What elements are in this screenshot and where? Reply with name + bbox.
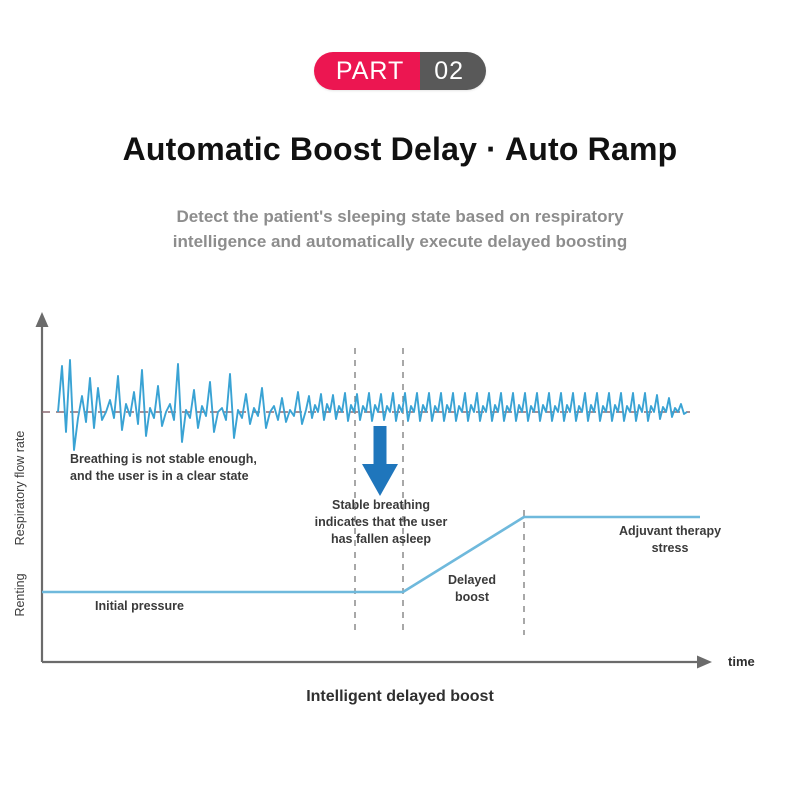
chart-caption: Intelligent delayed boost [0,688,800,706]
annot-adjuvant-line-1: Adjuvant therapy [619,524,721,538]
annotation-delayed-boost: Delayed boost [448,573,496,604]
annot-stable-line-1: Stable breathing [332,498,430,512]
subtitle-line-1: Detect the patient's sleeping state base… [100,205,700,230]
annot-unstable-line-1: Breathing is not stable enough, [70,452,257,466]
respiratory-waveform [58,360,687,450]
chart-container: time Respiratory flow rate Renting [0,300,800,720]
annotation-unstable-breathing: Breathing is not stable enough, and the … [70,452,257,483]
down-arrow-icon [362,426,398,496]
annot-delayed-boost-line-1: Delayed [448,573,496,587]
annot-stable-line-2: indicates that the user [315,515,448,529]
part-badge-wrapper: PART 02 [0,52,800,90]
slide-page: PART 02 Automatic Boost Delay · Auto Ram… [0,0,800,800]
y-axis-label-renting: Renting [13,573,27,616]
page-title: Automatic Boost Delay · Auto Ramp [0,131,800,168]
annot-initial-pressure: Initial pressure [95,599,184,613]
subtitle-line-2: intelligence and automatically execute d… [100,230,700,255]
annot-delayed-boost-line-2: boost [455,590,490,604]
annotation-adjuvant-therapy: Adjuvant therapy stress [619,524,721,555]
annot-adjuvant-line-2: stress [652,541,689,555]
x-axis-label: time [728,654,755,669]
chart-svg: time Respiratory flow rate Renting [0,300,800,720]
x-axis [42,656,712,669]
page-subtitle: Detect the patient's sleeping state base… [100,205,700,254]
part-badge: PART 02 [314,52,486,90]
y-axis-label-flow-rate: Respiratory flow rate [13,431,27,546]
annotation-stable-breathing: Stable breathing indicates that the user… [315,498,448,546]
part-badge-label: PART [314,52,420,90]
part-badge-number: 02 [420,52,486,90]
y-axis [36,312,49,662]
annot-stable-line-3: has fallen asleep [331,532,431,546]
annot-unstable-line-2: and the user is in a clear state [70,469,249,483]
